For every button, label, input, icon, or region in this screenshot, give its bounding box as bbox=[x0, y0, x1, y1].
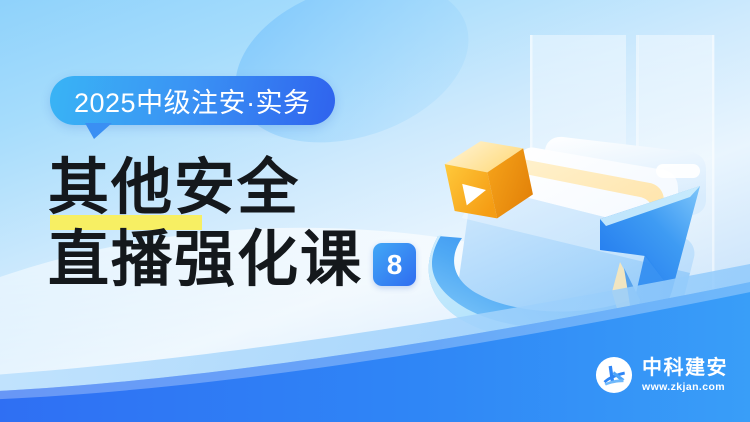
logo-website-url: www.zkjan.com bbox=[642, 382, 728, 393]
episode-number-badge: 8 bbox=[373, 243, 416, 286]
course-subtitle-badge: 2025中级注安·实务 bbox=[50, 76, 335, 125]
title-line-2-text: 直播强化课 bbox=[48, 224, 363, 296]
title-line-2: 直播强化课 8 bbox=[48, 224, 416, 296]
badge-label: 2025中级注安·实务 bbox=[74, 81, 311, 120]
badge-pill: 2025中级注安·实务 bbox=[50, 76, 335, 125]
page-title: 其他安全 直播强化课 8 bbox=[48, 152, 416, 296]
logo-text-block: 中科建安 www.zkjan.com bbox=[642, 357, 728, 393]
zkjan-logo-icon bbox=[595, 356, 633, 394]
title-line-1-text: 其他安全 bbox=[48, 152, 300, 223]
logo-company-name: 中科建安 bbox=[642, 357, 728, 377]
course-banner: 2025中级注安·实务 其他安全 直播强化课 8 中科建安 www.zkjan.… bbox=[0, 0, 750, 422]
title-line-1: 其他安全 bbox=[48, 152, 416, 224]
badge-tail bbox=[85, 123, 112, 139]
brand-logo[interactable]: 中科建安 www.zkjan.com bbox=[595, 356, 728, 394]
